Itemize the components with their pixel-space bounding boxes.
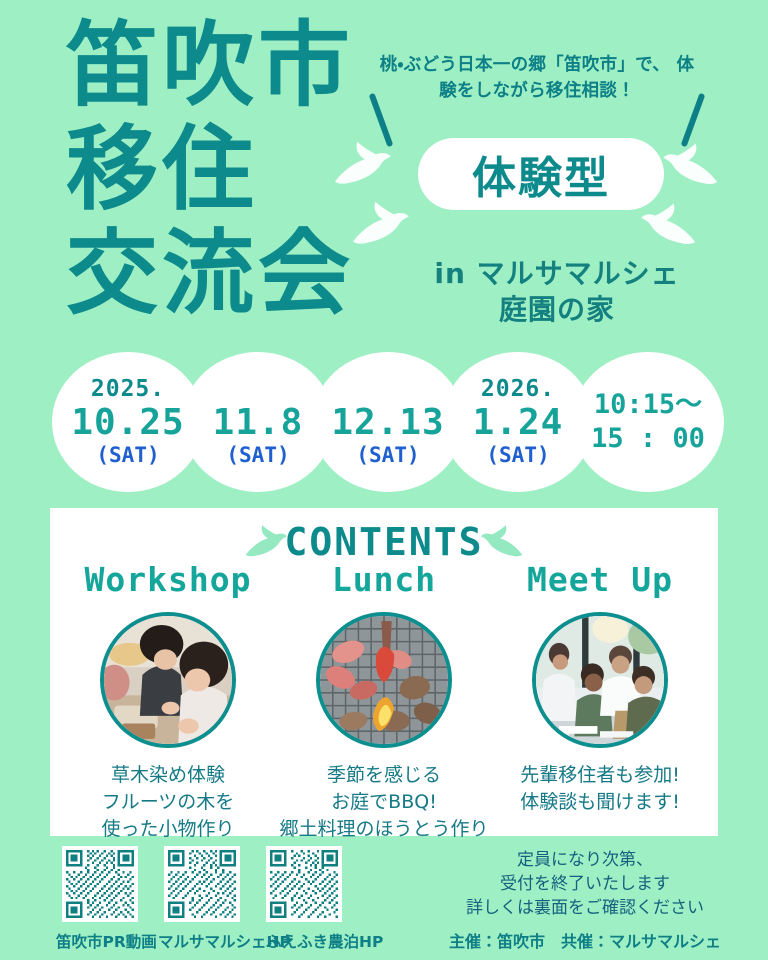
date-monthday: 1.24 — [473, 403, 564, 443]
title-line-2: 移住 — [66, 118, 396, 222]
content-description: 草木染め体験 フルーツの木を 使った小物作り — [62, 762, 274, 843]
content-column-workshop: Workshop — [62, 560, 274, 843]
qr-label: ふえふき農泊HP — [266, 930, 368, 952]
workshop-photo — [100, 612, 236, 748]
content-title: Workshop — [62, 560, 274, 604]
date-dayofweek: (SAT) — [96, 443, 159, 467]
bbq-photo — [316, 612, 452, 748]
meetup-photo — [532, 612, 668, 748]
date-circles: 2025. 10.25 (SAT) 11.8 (SAT) 12.13 (SAT)… — [52, 352, 724, 492]
venue-line-1: in マルサマルシェ — [392, 256, 722, 292]
experience-badge-label: 体験型 — [472, 142, 610, 206]
notice-text: 定員になり次第、 受付を終了いたします 詳しくは裏面をご確認ください — [420, 848, 750, 920]
time-circle: 10:15〜 15 : 00 — [572, 352, 724, 492]
qr-code-group — [62, 846, 342, 922]
date-monthday: 12.13 — [331, 403, 444, 443]
qr-code[interactable] — [62, 846, 138, 922]
contents-heading: CONTENTS — [50, 520, 718, 564]
date-dayofweek: (SAT) — [226, 443, 289, 467]
qr-code[interactable] — [266, 846, 342, 922]
qr-code[interactable] — [164, 846, 240, 922]
content-description: 季節を感じる お庭でBBQ! 郷土料理のほうとう作り — [254, 762, 514, 843]
bird-icon — [640, 200, 700, 248]
organizer-text: 主催：笛吹市 共催：マルサマルシェ — [420, 928, 750, 952]
lead-copy: 桃・ぶどう日本一の郷「笛吹市」で、 体験をしながら移住相談！ — [372, 52, 702, 104]
content-title: Meet Up — [494, 560, 706, 604]
date-monthday: 10.25 — [71, 403, 184, 443]
date-dayofweek: (SAT) — [486, 443, 549, 467]
venue-line-2: 庭園の家 — [392, 292, 722, 328]
date-year: 2025. — [91, 377, 165, 403]
contents-panel: CONTENTS Workshop — [50, 508, 718, 836]
qr-label: マルサマルシェHP — [158, 930, 260, 952]
content-column-meetup: Meet Up — [494, 560, 706, 816]
time-end: 15 : 00 — [591, 422, 705, 456]
experience-badge: 体験型 — [418, 138, 664, 210]
content-title: Lunch — [278, 560, 490, 604]
qr-label: 笛吹市PR動画 — [56, 930, 144, 952]
date-year: 2026. — [481, 377, 555, 403]
title-line-1: 笛吹市 — [66, 14, 396, 118]
venue-block: in マルサマルシェ 庭園の家 — [392, 256, 722, 328]
poster-root: 笛吹市 移住 交流会 桃・ぶどう日本一の郷「笛吹市」で、 体験をしながら移住相談… — [0, 0, 768, 960]
content-column-lunch: Lunch — [278, 560, 490, 843]
date-monthday: 11.8 — [213, 403, 304, 443]
time-start: 10:15〜 — [594, 388, 702, 422]
date-dayofweek: (SAT) — [356, 443, 419, 467]
bird-icon — [662, 140, 722, 188]
page-title: 笛吹市 移住 交流会 — [66, 14, 396, 326]
content-description: 先輩移住者も参加! 体験談も聞けます! — [494, 762, 706, 816]
title-line-3: 交流会 — [66, 222, 396, 326]
